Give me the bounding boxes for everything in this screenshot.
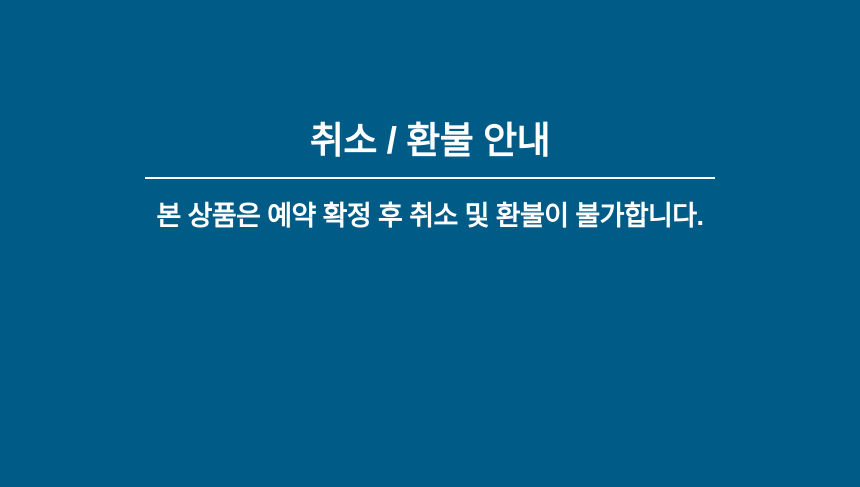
- cancellation-refund-notice-banner: 취소 / 환불 안내 본 상품은 예약 확정 후 취소 및 환불이 불가합니다.: [0, 0, 860, 487]
- notice-content: 취소 / 환불 안내 본 상품은 예약 확정 후 취소 및 환불이 불가합니다.: [0, 0, 860, 234]
- notice-body-text: 본 상품은 예약 확정 후 취소 및 환불이 불가합니다.: [157, 179, 704, 234]
- page-title: 취소 / 환불 안내: [310, 118, 550, 164]
